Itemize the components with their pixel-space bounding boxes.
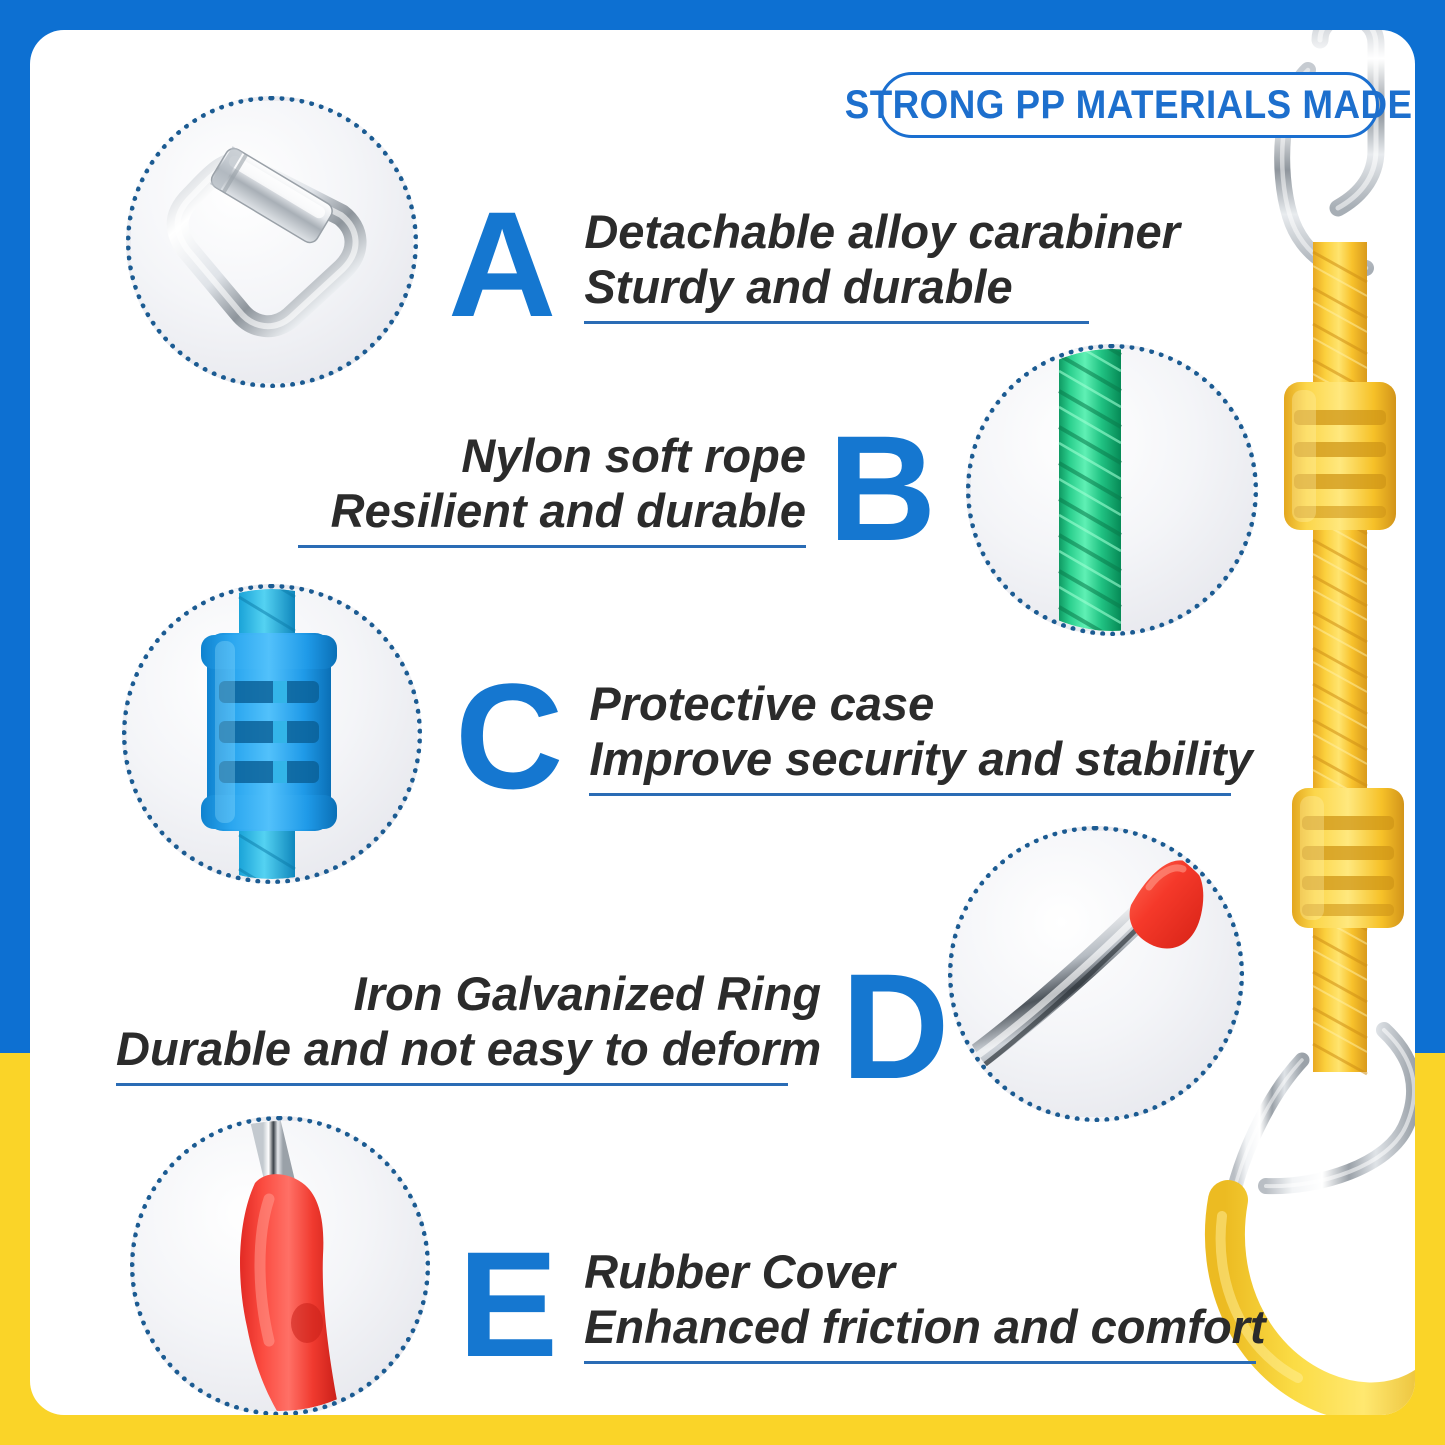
feature-e-photo-circle <box>130 1116 430 1415</box>
feature-a-letter: A <box>448 198 556 330</box>
feature-d-title: Iron Galvanized Ring <box>354 966 821 1021</box>
feature-d: Iron Galvanized Ring Durable and not eas… <box>116 960 949 1092</box>
infographic-page: STRONG PP MATERIALS MADE <box>0 0 1445 1445</box>
feature-b-photo-circle <box>966 344 1258 636</box>
alloy-carabiner-photo <box>131 101 413 383</box>
header-badge-label: STRONG PP MATERIALS MADE <box>845 83 1413 128</box>
feature-d-subtitle: Durable and not easy to deform <box>116 1021 821 1076</box>
galvanized-ring-photo <box>953 831 1239 1117</box>
feature-c-title: Protective case <box>589 676 1252 731</box>
content-card: STRONG PP MATERIALS MADE <box>30 30 1415 1415</box>
feature-d-photo-circle <box>948 826 1244 1122</box>
feature-c-letter: C <box>455 670 563 802</box>
feature-a-underline <box>584 321 1089 324</box>
feature-e-subtitle: Enhanced friction and comfort <box>584 1299 1266 1354</box>
feature-e: E Rubber Cover Enhanced friction and com… <box>458 1238 1266 1370</box>
feature-b-text: Nylon soft rope Resilient and durable <box>298 428 806 549</box>
feature-e-text: Rubber Cover Enhanced friction and comfo… <box>584 1244 1266 1365</box>
header-badge: STRONG PP MATERIALS MADE <box>879 72 1379 138</box>
feature-c-text: Protective case Improve security and sta… <box>589 676 1252 797</box>
feature-d-letter: D <box>841 960 949 1092</box>
feature-a: A Detachable alloy carabiner Sturdy and … <box>448 198 1180 330</box>
feature-a-title: Detachable alloy carabiner <box>584 204 1180 259</box>
feature-d-underline <box>116 1083 788 1086</box>
rubber-cover-photo <box>135 1121 425 1411</box>
nylon-rope-photo <box>971 349 1253 631</box>
feature-e-title: Rubber Cover <box>584 1244 1266 1299</box>
feature-a-text: Detachable alloy carabiner Sturdy and du… <box>584 204 1180 325</box>
feature-b-title: Nylon soft rope <box>461 428 806 483</box>
feature-a-subtitle: Sturdy and durable <box>584 259 1180 314</box>
feature-b-letter: B <box>828 422 936 554</box>
feature-b-subtitle: Resilient and durable <box>331 483 806 538</box>
feature-a-photo-circle <box>126 96 418 388</box>
feature-c-underline <box>589 793 1231 796</box>
feature-c-subtitle: Improve security and stability <box>589 731 1252 786</box>
feature-b-underline <box>298 545 806 548</box>
feature-c: C Protective case Improve security and s… <box>455 670 1253 802</box>
feature-b: Nylon soft rope Resilient and durable B <box>298 422 936 554</box>
protective-case-photo <box>127 589 417 879</box>
feature-c-photo-circle <box>122 584 422 884</box>
feature-e-underline <box>584 1361 1256 1364</box>
feature-d-text: Iron Galvanized Ring Durable and not eas… <box>116 966 821 1087</box>
feature-e-letter: E <box>458 1238 558 1370</box>
